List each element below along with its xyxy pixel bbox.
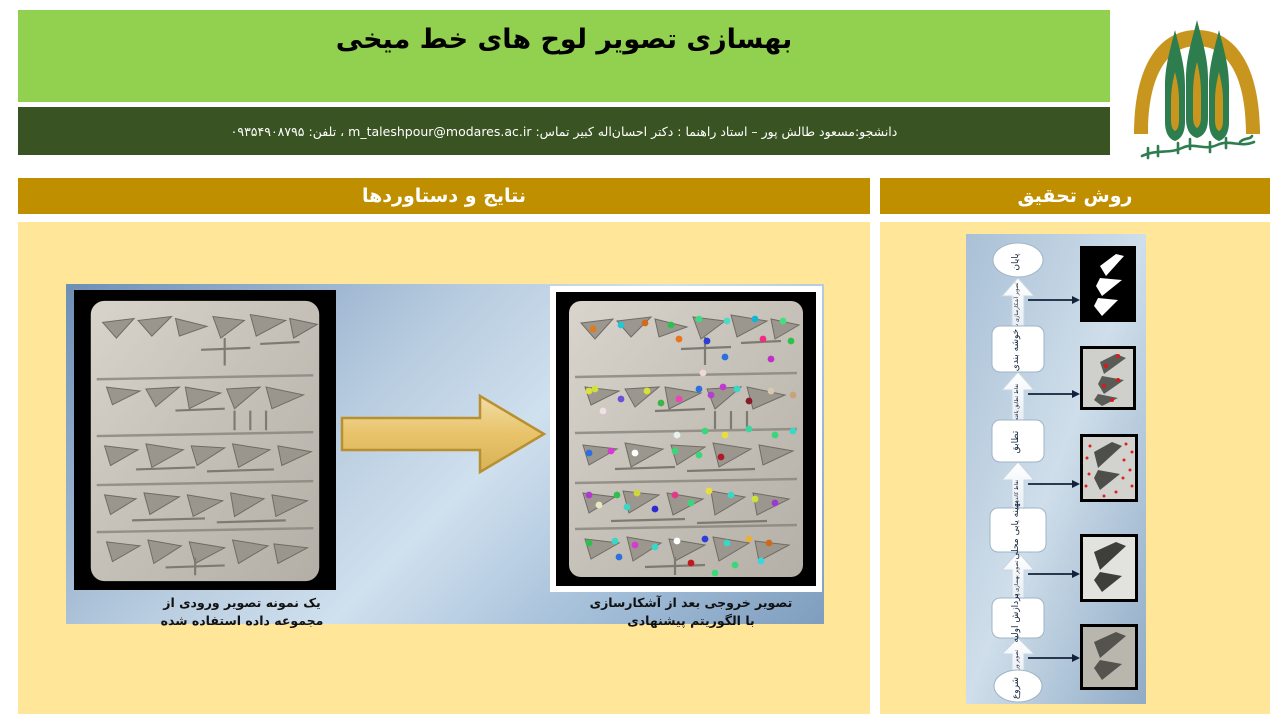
- poster-subtitle-bar: دانشجو:مسعود طالش پور – استاد راهنما : د…: [18, 107, 1110, 155]
- flow-node-step3-label: تطابق: [1011, 430, 1021, 453]
- output-tablet-image: [550, 286, 822, 592]
- logo-caption-calligraphy: [1142, 136, 1254, 158]
- section-header-results: نتایج و دستاوردها: [18, 178, 870, 214]
- university-logo: دانشگاه تربیت مدرس: [1122, 6, 1272, 168]
- thumb-binary: [1080, 246, 1136, 322]
- flow-node-step2-label: بهینه یابی محلی: [1011, 501, 1021, 560]
- output-tablet-frame: [556, 292, 816, 586]
- caption-output-image: تصویر خروجی بعد از آشکارسازی با الگوریتم…: [566, 594, 816, 630]
- method-panel: تصویر آشکارسازی شده نقاط تطابق یافته نقا…: [880, 222, 1270, 714]
- poster-root: بهسازی تصویر لوح های خط میخی دانشجو:مسعو…: [0, 0, 1280, 720]
- phone-number: ۰۹۳۵۴۹۰۸۷۹۵: [231, 124, 305, 139]
- section-header-method: روش تحقیق: [880, 178, 1270, 214]
- student-advisor-label: دانشجو:مسعود طالش پور – استاد راهنما : د…: [573, 124, 897, 139]
- thumb-enhanced: [1080, 534, 1138, 602]
- section-header-results-label: نتایج و دستاوردها: [362, 185, 526, 207]
- results-panel: یک نمونه تصویر ورودی از مجموعه داده استف…: [18, 222, 870, 714]
- thumb-candidate: [1080, 434, 1138, 502]
- contact-label: تماس:: [535, 124, 569, 139]
- flow-node-step1-label: پردازش اولیه: [1011, 593, 1021, 643]
- page-title: بهسازی تصویر لوح های خط میخی: [336, 24, 792, 55]
- process-arrow-icon: [338, 388, 550, 480]
- flow-node-end-label: پایان: [1011, 253, 1021, 271]
- flow-node-step4-label: خوشه بندی: [1011, 329, 1021, 371]
- input-tablet-image: [74, 290, 336, 590]
- caption-output-line2: با الگوریتم پیشنهادی: [566, 612, 816, 630]
- flow-node-start-label: شروع: [1011, 677, 1021, 699]
- caption-input-image: یک نمونه تصویر ورودی از مجموعه داده استف…: [122, 594, 362, 630]
- results-figure: یک نمونه تصویر ورودی از مجموعه داده استف…: [66, 284, 824, 624]
- email-address[interactable]: m_taleshpour@modares.ac.ir: [348, 124, 531, 139]
- caption-input-line1: یک نمونه تصویر ورودی از: [122, 594, 362, 612]
- thumb-input: [1080, 624, 1138, 690]
- caption-output-line1: تصویر خروجی بعد از آشکارسازی: [566, 594, 816, 612]
- caption-input-line2: مجموعه داده استفاده شده: [122, 612, 362, 630]
- method-flowchart: تصویر آشکارسازی شده نقاط تطابق یافته نقا…: [966, 234, 1146, 704]
- thumb-matched: [1080, 346, 1136, 410]
- flow-arrow-label-4: نقاط تطابق یافته: [1014, 384, 1020, 421]
- poster-title-bar: بهسازی تصویر لوح های خط میخی: [18, 10, 1110, 102]
- section-header-method-label: روش تحقیق: [1018, 185, 1133, 207]
- phone-label: ، تلفن:: [309, 124, 345, 139]
- authors-contact-line: دانشجو:مسعود طالش پور – استاد راهنما : د…: [231, 124, 898, 139]
